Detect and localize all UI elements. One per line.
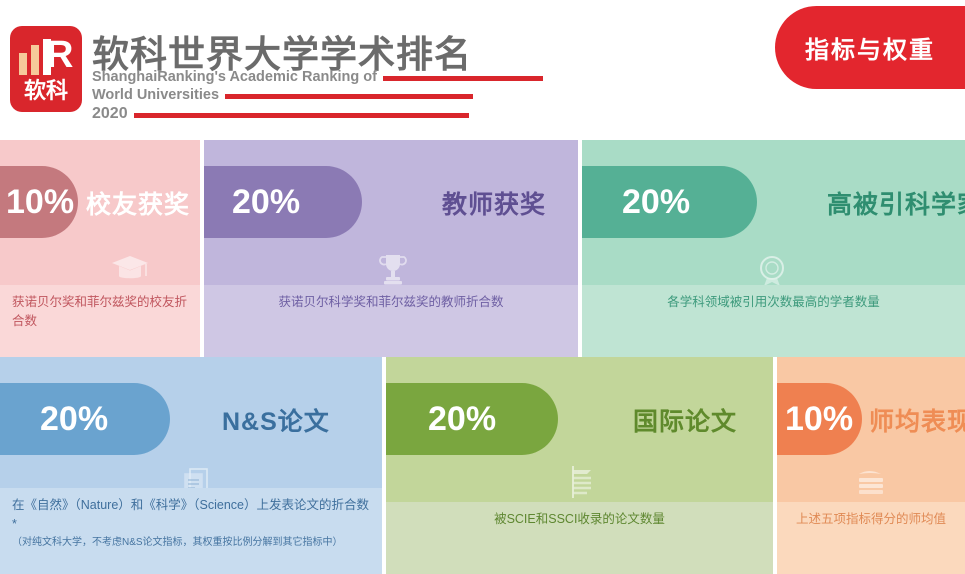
logo-letter-r: R (46, 36, 72, 76)
title-rule-2 (225, 94, 473, 99)
title-en-line-1: ShanghaiRanking's Academic Ranking of (92, 69, 377, 85)
weight-pill-faculty: 20% (204, 166, 362, 238)
panel-bottom-pcp: 上述五项指标得分的师均值 (777, 502, 965, 574)
logo-chinese-text: 软科 (10, 79, 82, 103)
badge-label: 指标与权重 (805, 30, 935, 65)
indicator-label-faculty: 教师获奖 (442, 185, 546, 221)
indicator-row-2: 20% N&S论文 在《自然》（Nature）和《科学》（Science）上发表… (0, 357, 965, 574)
weight-pill-alumni: 10% (0, 166, 78, 238)
indicators-weights-badge: 指标与权重 (775, 6, 965, 89)
indicator-panel-per-capita-performance[interactable]: 10% 师均表现 上述五项指标得分的师均值 (777, 357, 965, 574)
weight-pill-hcr: 20% (582, 166, 757, 238)
ns-footnote: （对纯文科大学，不考虑N&S论文指标，其权重按比例分解到其它指标中） (12, 535, 370, 550)
weight-pill-ns: 20% (0, 383, 170, 455)
indicator-panel-alumni[interactable]: 10% 校友获奖 获诺贝尔奖和菲尔兹奖的校友折合数 (0, 140, 200, 357)
panel-top-pub: 20% 国际论文 (386, 357, 773, 502)
title-year: 2020 (92, 105, 128, 123)
panel-top-faculty: 20% 教师获奖 (204, 140, 578, 285)
title-en-line-2: World Universities (92, 87, 219, 103)
weight-value-pcp: 10% (785, 400, 853, 439)
indicator-label-ns: N&S论文 (222, 402, 330, 438)
indicator-description-hcr: 各学科领域被引用次数最高的学者数量 (655, 285, 892, 312)
panel-bottom-pub: 被SCIE和SSCI收录的论文数量 (386, 502, 773, 574)
indicator-description-pcp: 上述五项指标得分的师均值 (784, 502, 958, 529)
panel-top-pcp: 10% 师均表现 (777, 357, 965, 502)
indicator-description-ns: 在《自然》（Nature）和《科学》（Science）上发表论文的折合数* （对… (0, 488, 382, 550)
ns-description-text: 在《自然》（Nature）和《科学》（Science）上发表论文的折合数* (12, 498, 369, 531)
panel-bottom-faculty: 获诺贝尔科学奖和菲尔兹奖的教师折合数 (204, 285, 578, 357)
indicator-label-pcp: 师均表现 (869, 402, 965, 438)
panel-top-ns: 20% N&S论文 (0, 357, 382, 502)
indicator-panel-faculty[interactable]: 20% 教师获奖 获诺贝尔科学奖和菲尔兹奖的教师折合数 (204, 140, 578, 357)
weight-value-ns: 20% (40, 400, 108, 439)
indicator-panel-highly-cited-researchers[interactable]: 20% 高被引科学家 各学科领域被引用次数最高的学者数量 (582, 140, 965, 357)
indicator-label-hcr: 高被引科学家 (827, 185, 965, 221)
title-rule-1 (383, 76, 543, 81)
indicator-row-1: 10% 校友获奖 获诺贝尔奖和菲尔兹奖的校友折合数 20% (0, 140, 965, 357)
indicator-label-pub: 国际论文 (633, 402, 737, 438)
weight-value-faculty: 20% (232, 183, 300, 222)
shanghairanking-logo: R 软科 (10, 26, 82, 112)
books-icon (849, 462, 893, 504)
indicator-description-alumni: 获诺贝尔奖和菲尔兹奖的校友折合数 (0, 285, 200, 331)
weight-pill-pub: 20% (386, 383, 558, 455)
page-header: R 软科 软科世界大学学术排名 ShanghaiRanking's Academ… (0, 0, 965, 140)
indicator-description-pub: 被SCIE和SSCI收录的论文数量 (482, 502, 677, 529)
panel-bottom-alumni: 获诺贝尔奖和菲尔兹奖的校友折合数 (0, 285, 200, 357)
panel-top-hcr: 20% 高被引科学家 (582, 140, 965, 285)
panel-bottom-hcr: 各学科领域被引用次数最高的学者数量 (582, 285, 965, 357)
panel-top-alumni: 10% 校友获奖 (0, 140, 200, 285)
weight-value-hcr: 20% (622, 183, 690, 222)
papers-flag-icon (559, 462, 603, 504)
indicator-description-faculty: 获诺贝尔科学奖和菲尔兹奖的教师折合数 (266, 285, 515, 312)
weight-pill-pcp: 10% (777, 383, 862, 455)
indicator-panel-ns-papers[interactable]: 20% N&S论文 在《自然》（Nature）和《科学》（Science）上发表… (0, 357, 382, 574)
panel-bottom-ns: 在《自然》（Nature）和《科学》（Science）上发表论文的折合数* （对… (0, 488, 382, 574)
title-rule-3 (134, 113, 469, 118)
weight-value-alumni: 10% (6, 183, 74, 222)
weight-value-pub: 20% (428, 400, 496, 439)
indicator-panel-international-papers[interactable]: 20% 国际论文 被SCIE和SSCI收录的论文数量 (386, 357, 773, 574)
indicator-label-alumni: 校友获奖 (86, 185, 190, 221)
